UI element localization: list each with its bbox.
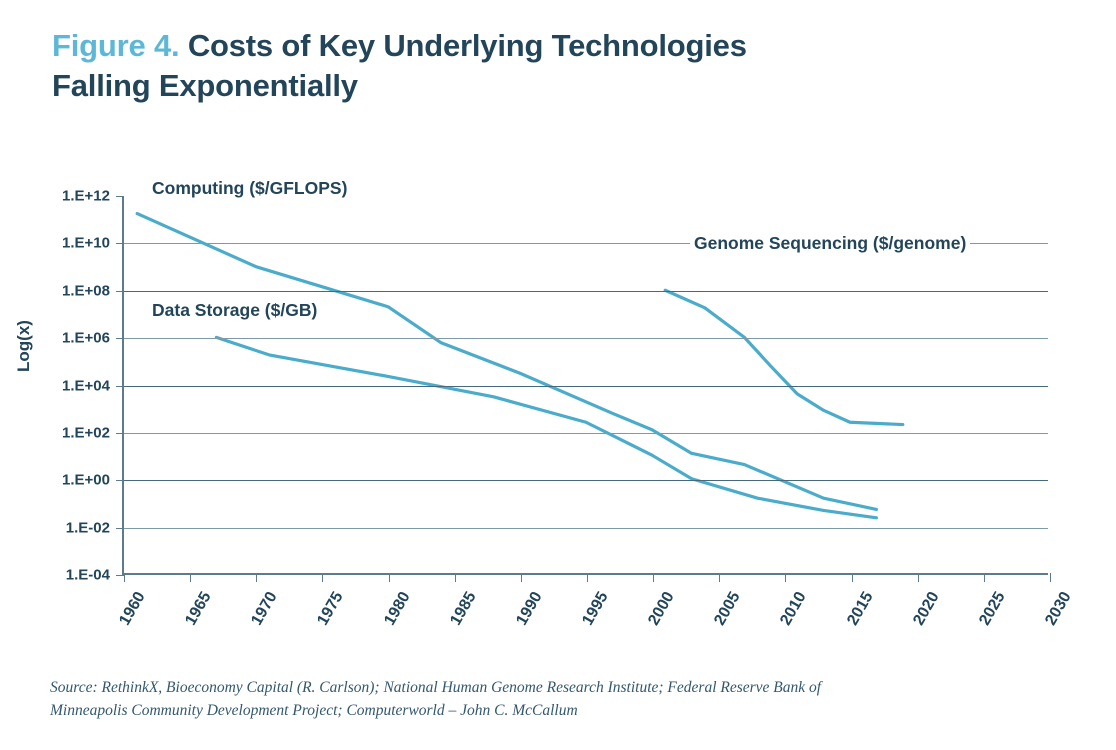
x-axis-label: 1960 bbox=[116, 589, 149, 629]
gridline-horizontal bbox=[124, 433, 1048, 434]
y-axis-label: 1.E+02 bbox=[62, 424, 110, 441]
chart-area: Log(x) 1.E+121.E+101.E+081.E+061.E+041.E… bbox=[0, 0, 1116, 660]
x-axis-tick bbox=[124, 573, 125, 582]
gridline-horizontal bbox=[124, 338, 1048, 339]
gridline-horizontal bbox=[124, 480, 1048, 481]
x-axis-tick bbox=[455, 573, 456, 582]
y-axis-tick bbox=[116, 196, 124, 197]
x-axis-label: 2000 bbox=[645, 589, 678, 629]
x-axis-label: 1985 bbox=[447, 589, 480, 629]
y-axis-tick bbox=[116, 575, 124, 576]
y-axis-label: 1.E+00 bbox=[62, 472, 110, 489]
source-line-1: Source: RethinkX, Bioeconomy Capital (R.… bbox=[50, 676, 1040, 699]
y-axis-tick bbox=[116, 243, 124, 244]
gridline-horizontal bbox=[124, 528, 1048, 529]
y-axis-tick bbox=[116, 386, 124, 387]
x-axis-label: 2030 bbox=[1042, 589, 1075, 629]
x-axis-tick bbox=[190, 573, 191, 582]
y-axis-label: 1.E+06 bbox=[62, 330, 110, 347]
y-axis-tick bbox=[116, 480, 124, 481]
series-line bbox=[216, 337, 876, 517]
y-axis-label: 1.E+12 bbox=[62, 188, 110, 205]
x-axis-tick bbox=[521, 573, 522, 582]
x-axis-tick bbox=[1050, 573, 1051, 582]
y-axis-tick bbox=[116, 433, 124, 434]
x-axis-tick bbox=[852, 573, 853, 582]
x-axis-tick bbox=[785, 573, 786, 582]
x-axis-label: 1980 bbox=[381, 589, 414, 629]
y-axis-tick bbox=[116, 528, 124, 529]
x-axis-label: 1970 bbox=[248, 589, 281, 629]
x-axis-label: 1990 bbox=[513, 589, 546, 629]
x-axis-tick bbox=[984, 573, 985, 582]
x-axis-label: 2005 bbox=[711, 589, 744, 629]
x-axis-label: 2020 bbox=[910, 589, 943, 629]
x-axis-label: 2025 bbox=[976, 589, 1009, 629]
y-axis-label: 1.E+04 bbox=[62, 377, 110, 394]
y-axis-tick bbox=[116, 338, 124, 339]
series-label-data-storage: Data Storage ($/GB) bbox=[148, 299, 321, 321]
y-axis-tick bbox=[116, 291, 124, 292]
x-axis-tick bbox=[719, 573, 720, 582]
y-axis-label: 1.E+08 bbox=[62, 282, 110, 299]
gridline-horizontal bbox=[124, 386, 1048, 387]
source-note: Source: RethinkX, Bioeconomy Capital (R.… bbox=[50, 676, 1040, 722]
x-axis-tick bbox=[653, 573, 654, 582]
series-label-computing: Computing ($/GFLOPS) bbox=[148, 177, 351, 199]
figure-container: Figure 4. Costs of Key Underlying Techno… bbox=[0, 0, 1116, 750]
x-axis-tick bbox=[918, 573, 919, 582]
y-axis-title: Log(x) bbox=[14, 320, 34, 372]
x-axis-label: 2015 bbox=[844, 589, 877, 629]
x-axis-tick bbox=[256, 573, 257, 582]
y-axis-label: 1.E+10 bbox=[62, 235, 110, 252]
series-line bbox=[665, 290, 903, 424]
x-axis-label: 2010 bbox=[778, 589, 811, 629]
gridline-horizontal bbox=[124, 291, 1048, 292]
series-label-genome-sequencing: Genome Sequencing ($/genome) bbox=[690, 232, 970, 254]
x-axis-tick bbox=[322, 573, 323, 582]
x-axis-label: 1975 bbox=[315, 589, 348, 629]
x-axis-label: 1965 bbox=[182, 589, 215, 629]
x-axis-tick bbox=[389, 573, 390, 582]
source-line-2: Minneapolis Community Development Projec… bbox=[50, 699, 1040, 722]
y-axis-label: 1.E-04 bbox=[66, 567, 110, 584]
y-axis-label: 1.E-02 bbox=[66, 519, 110, 536]
x-axis-tick bbox=[587, 573, 588, 582]
x-axis-label: 1995 bbox=[579, 589, 612, 629]
